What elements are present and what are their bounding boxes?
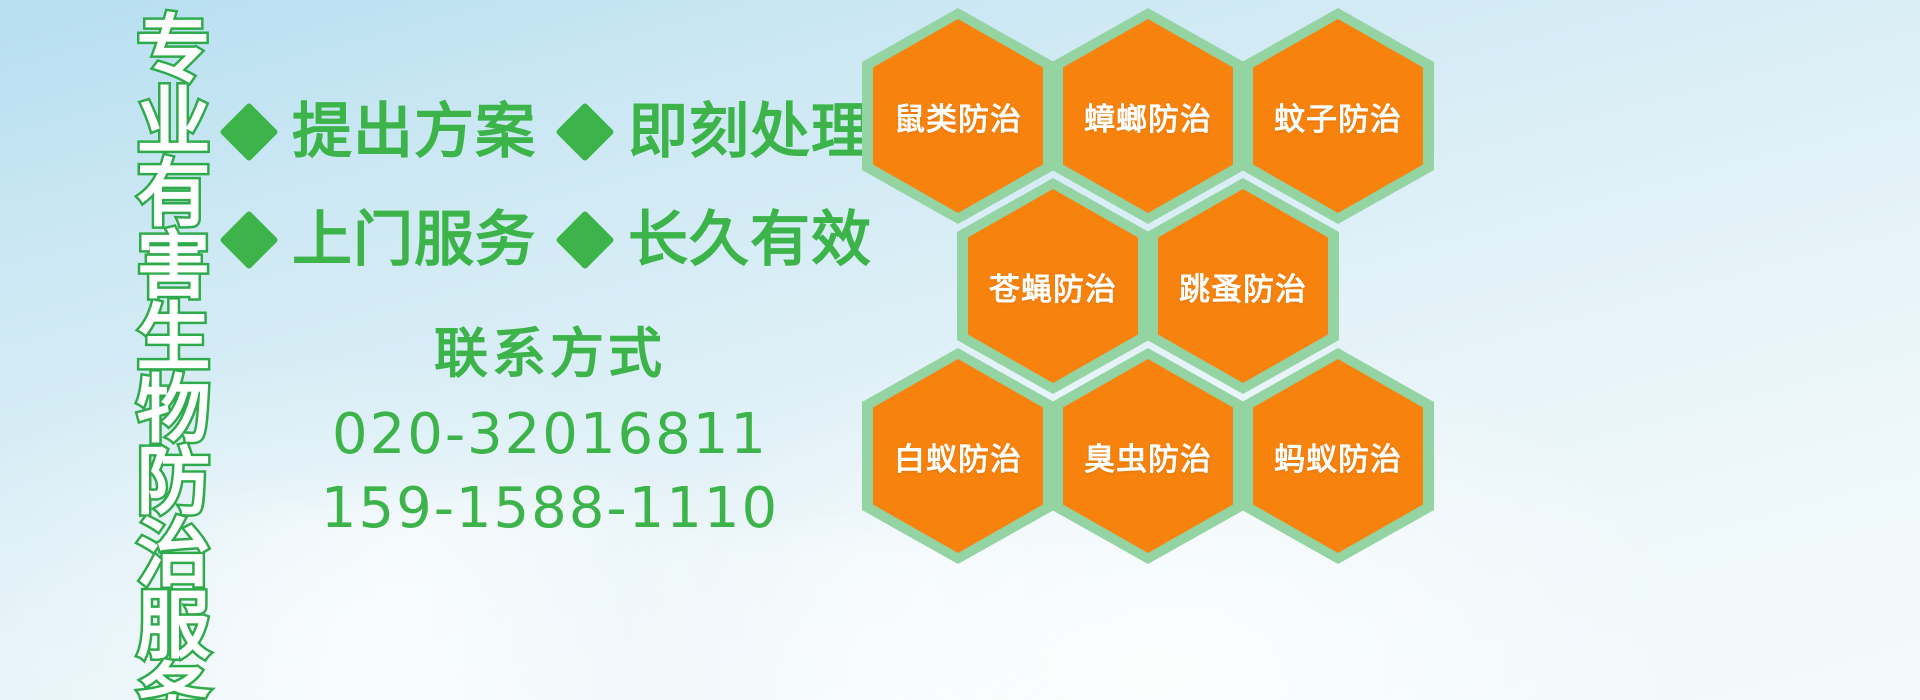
diamond-bullet-icon (555, 102, 614, 161)
service-label: 苍蝇防治 (989, 264, 1117, 309)
service-label: 白蚁防治 (894, 434, 1022, 479)
service-hex-termite[interactable]: 白蚁防治 (862, 348, 1054, 564)
feature-label: 提出方案 (292, 102, 536, 162)
phone-landline[interactable]: 020-32016811 (300, 398, 800, 472)
feature-row: 上门服务 长久有效 (228, 186, 858, 294)
feature-row: 提出方案 即刻处理 (228, 78, 858, 186)
contact-block: 联系方式 020-32016811 159-1588-1110 (300, 325, 800, 546)
diamond-bullet-icon (555, 210, 614, 269)
phone-mobile[interactable]: 159-1588-1110 (300, 472, 800, 546)
service-label: 蚂蚁防治 (1274, 434, 1402, 479)
feature-item-immediate-handling: 即刻处理 (564, 102, 872, 162)
feature-list: 提出方案 即刻处理 上门服务 长久有效 (228, 78, 858, 294)
service-label: 蟑螂防治 (1084, 94, 1212, 139)
diamond-bullet-icon (219, 102, 278, 161)
service-hex-bedbug[interactable]: 臭虫防治 (1052, 348, 1244, 564)
service-honeycomb: 鼠类防治 蟑螂防治 蚊子防治 苍蝇防治 跳蚤防治 白蚁防治 (862, 0, 1442, 560)
service-label: 跳蚤防治 (1179, 264, 1307, 309)
service-hex-ant[interactable]: 蚂蚁防治 (1242, 348, 1434, 564)
feature-item-propose-plan: 提出方案 (228, 102, 536, 162)
diamond-bullet-icon (219, 210, 278, 269)
feature-label: 长久有效 (628, 210, 872, 270)
feature-item-long-lasting: 长久有效 (564, 210, 872, 270)
contact-title: 联系方式 (300, 325, 800, 384)
promotional-banner: 专业有害生物防治服务 提出方案 即刻处理 上门服务 长久有效 联 (0, 0, 1920, 700)
feature-label: 上门服务 (292, 210, 536, 270)
service-label: 臭虫防治 (1084, 434, 1212, 479)
feature-item-onsite-service: 上门服务 (228, 210, 536, 270)
service-label: 蚊子防治 (1274, 94, 1402, 139)
vertical-headline: 专业有害生物防治服务 (106, 10, 202, 560)
service-label: 鼠类防治 (894, 94, 1022, 139)
feature-label: 即刻处理 (628, 102, 872, 162)
